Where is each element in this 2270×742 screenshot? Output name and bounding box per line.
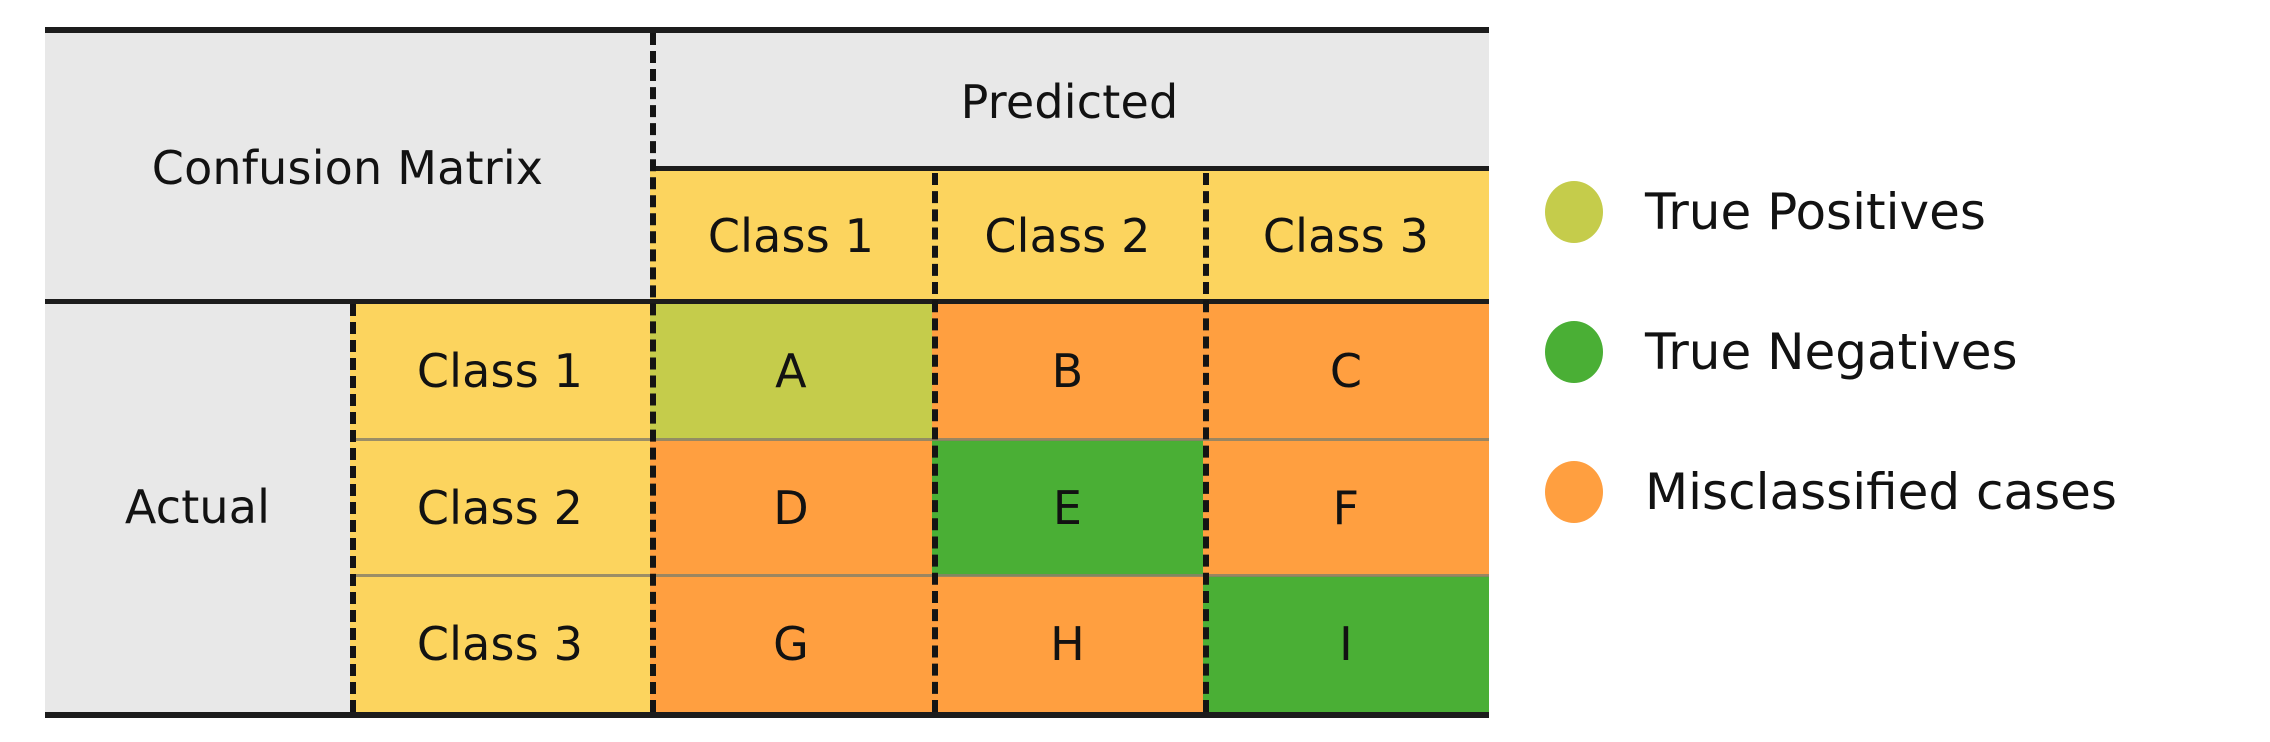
class-2-3-divider bbox=[1203, 173, 1209, 712]
predicted-axis-label-cell: Predicted bbox=[650, 33, 1489, 170]
row-separator bbox=[650, 574, 932, 577]
matrix-cell-label: G bbox=[773, 621, 809, 667]
matrix-cell-r3c3: I bbox=[1203, 576, 1489, 712]
actual-axis-label: Actual bbox=[125, 484, 270, 530]
row-separator bbox=[932, 438, 1203, 441]
matrix-cell-r1c3: C bbox=[1203, 302, 1489, 440]
column-header-class-2: Class 2 bbox=[932, 170, 1203, 302]
row-separator bbox=[350, 574, 650, 577]
matrix-cell-r2c3: F bbox=[1203, 440, 1489, 576]
header-body-vertical-divider bbox=[650, 33, 656, 712]
legend-swatch-icon bbox=[1545, 461, 1603, 523]
predicted-axis-label: Predicted bbox=[961, 79, 1179, 125]
row-separator bbox=[1203, 574, 1489, 577]
column-header-label: Class 2 bbox=[984, 213, 1150, 259]
column-header-class-3: Class 3 bbox=[1203, 170, 1489, 302]
row-separator bbox=[932, 574, 1203, 577]
matrix-cell-r2c2: E bbox=[932, 440, 1203, 576]
table-bottom-border bbox=[45, 712, 1489, 718]
page-title: Confusion Matrix bbox=[152, 145, 543, 191]
row-header-label: Class 2 bbox=[417, 485, 583, 531]
table-top-border bbox=[45, 27, 1489, 33]
row-header-class-1: Class 1 bbox=[350, 302, 650, 440]
row-separator bbox=[350, 438, 650, 441]
column-header-label: Class 3 bbox=[1263, 213, 1429, 259]
confusion-matrix-figure: Confusion Matrix Predicted Class 1 Class… bbox=[0, 0, 2270, 742]
legend-item-true-positives: True Positives bbox=[1545, 168, 2245, 256]
matrix-cell-r2c1: D bbox=[650, 440, 932, 576]
class-1-2-divider bbox=[932, 173, 938, 712]
legend-item-true-negatives: True Negatives bbox=[1545, 308, 2245, 396]
matrix-cell-r3c2: H bbox=[932, 576, 1203, 712]
matrix-cell-r1c1: A bbox=[650, 302, 932, 440]
row-header-class-3: Class 3 bbox=[350, 576, 650, 712]
matrix-cell-label: D bbox=[773, 485, 809, 531]
matrix-title-cell: Confusion Matrix bbox=[45, 33, 650, 302]
actual-column-divider bbox=[350, 304, 356, 712]
header-body-divider bbox=[45, 299, 1489, 304]
row-separator bbox=[650, 438, 932, 441]
confusion-matrix-table: Confusion Matrix Predicted Class 1 Class… bbox=[45, 33, 1489, 712]
legend-swatch-icon bbox=[1545, 181, 1603, 243]
actual-axis-label-cell: Actual bbox=[45, 302, 350, 712]
matrix-cell-label: C bbox=[1330, 348, 1362, 394]
predicted-header-divider bbox=[650, 166, 1489, 171]
matrix-cell-label: H bbox=[1050, 621, 1085, 667]
matrix-cell-label: B bbox=[1052, 348, 1084, 394]
matrix-cell-r1c2: B bbox=[932, 302, 1203, 440]
row-header-class-2: Class 2 bbox=[350, 440, 650, 576]
legend-item-label: Misclassified cases bbox=[1645, 467, 2117, 517]
row-separator bbox=[1203, 438, 1489, 441]
row-header-label: Class 1 bbox=[417, 348, 583, 394]
matrix-cell-label: I bbox=[1339, 621, 1353, 667]
column-header-label: Class 1 bbox=[708, 213, 874, 259]
row-header-label: Class 3 bbox=[417, 621, 583, 667]
legend-item-label: True Negatives bbox=[1645, 327, 2018, 377]
legend-swatch-icon bbox=[1545, 321, 1603, 383]
column-header-class-1: Class 1 bbox=[650, 170, 932, 302]
legend-item-label: True Positives bbox=[1645, 187, 1986, 237]
legend-item-misclassified: Misclassified cases bbox=[1545, 448, 2245, 536]
matrix-cell-label: F bbox=[1333, 485, 1360, 531]
matrix-cell-label: A bbox=[775, 348, 807, 394]
matrix-cell-label: E bbox=[1053, 485, 1082, 531]
matrix-cell-r3c1: G bbox=[650, 576, 932, 712]
legend: True Positives True Negatives Misclassif… bbox=[1545, 168, 2245, 536]
